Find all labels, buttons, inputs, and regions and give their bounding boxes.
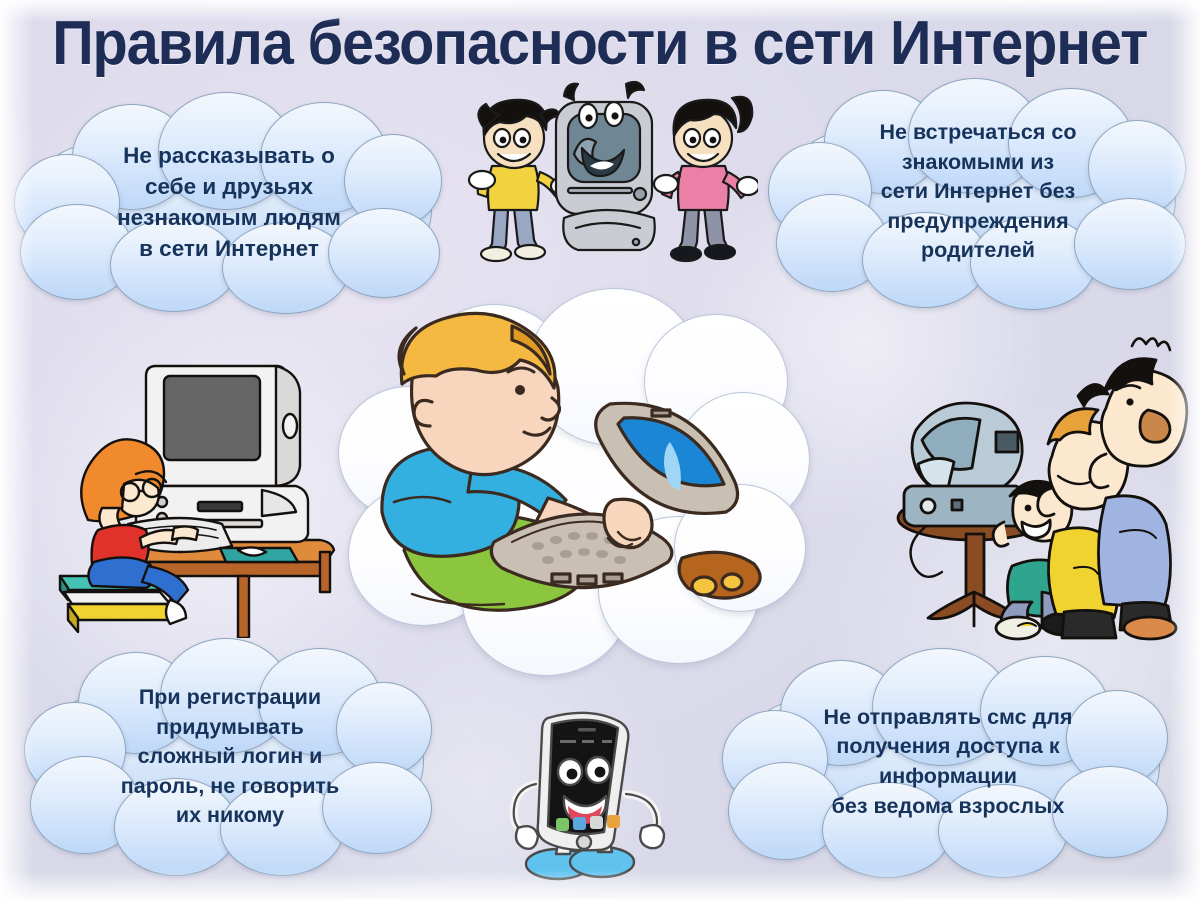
family-at-computer-svg: [892, 336, 1192, 646]
poster-root: Правила безопасности в сети Интернет Не …: [0, 0, 1200, 900]
cloud-bottom-right-text: Не отправлять смс для получения доступа …: [722, 648, 1174, 876]
illustration-boy-at-desk: [24, 352, 340, 638]
smiling-phone-svg: [490, 700, 690, 890]
illustration-boy-with-laptop: [352, 306, 814, 658]
illustration-smiling-phone: [490, 700, 690, 890]
poster-title-bar: Правила безопасности в сети Интернет: [0, 0, 1200, 88]
illustration-kids-with-computer: [448, 74, 758, 274]
kids-with-computer-svg: [448, 74, 758, 274]
boy-with-laptop-svg: [352, 306, 814, 658]
cloud-bottom-right: Не отправлять смс для получения доступа …: [722, 648, 1174, 876]
cloud-top-left-text: Не рассказывать о себе и друзьях незнако…: [14, 92, 444, 312]
poster-title: Правила безопасности в сети Интернет: [52, 13, 1147, 75]
illustration-family-at-computer: [892, 336, 1192, 646]
cloud-top-left: Не рассказывать о себе и друзьях незнако…: [14, 92, 444, 312]
cloud-top-right: Не встречаться со знакомыми из сети Инте…: [768, 76, 1188, 308]
cloud-top-right-text: Не встречаться со знакомыми из сети Инте…: [768, 76, 1188, 308]
boy-at-desk-svg: [24, 352, 340, 638]
